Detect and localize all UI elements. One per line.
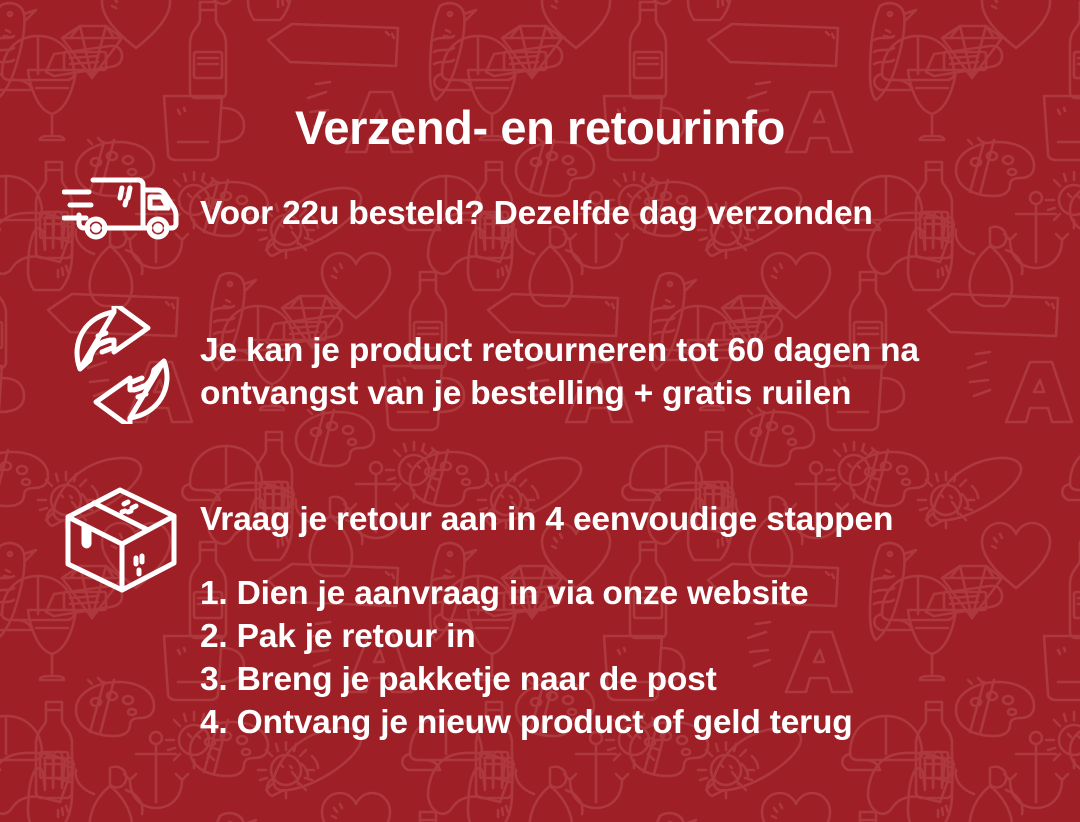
step-item-1: 1. Dien je aanvraag in via onze website [200, 572, 893, 615]
step-item-4: 4. Ontvang je nieuw product of geld teru… [200, 701, 893, 744]
delivery-truck-icon [62, 168, 182, 246]
shipping-returns-banner: Verzend- en retourinfo Voor 22 [0, 0, 1080, 822]
feature-text-returns: Je kan je product retourneren tot 60 dag… [200, 329, 1012, 415]
steps-heading: Vraag je retour aan in 4 eenvoudige stap… [200, 500, 893, 540]
page-title: Verzend- en retourinfo [0, 103, 1080, 152]
feature-row-returns: Je kan je product retourneren tot 60 dag… [62, 306, 1012, 424]
step-item-2: 2. Pak je retour in [200, 615, 893, 658]
return-exchange-arrows-icon [62, 306, 182, 424]
package-box-icon [62, 486, 182, 594]
feature-row-return-steps: Vraag je retour aan in 4 eenvoudige stap… [62, 486, 893, 744]
steps-list: 1. Dien je aanvraag in via onze website … [200, 572, 893, 744]
feature-text-shipping: Voor 22u besteld? Dezelfde dag verzonden [200, 192, 873, 235]
feature-row-shipping: Voor 22u besteld? Dezelfde dag verzonden [62, 168, 873, 246]
step-item-3: 3. Breng je pakketje naar de post [200, 658, 893, 701]
